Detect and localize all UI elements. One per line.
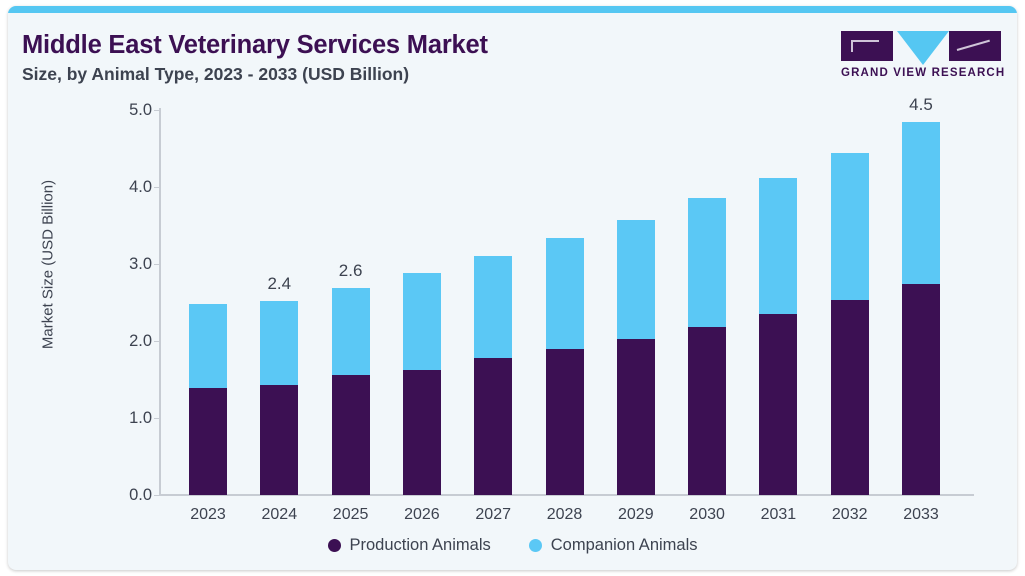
chart-legend: Production AnimalsCompanion Animals <box>8 536 1017 555</box>
y-axis-tick-label: 5.0 <box>108 102 152 119</box>
y-axis-tick-mark <box>154 264 160 265</box>
stacked-bar[interactable] <box>260 301 298 495</box>
stacked-bar[interactable] <box>759 178 797 495</box>
stacked-bar[interactable] <box>617 220 655 495</box>
x-axis-tick-label: 2032 <box>810 506 890 524</box>
bar-segment-companion-animals[interactable] <box>759 178 797 314</box>
bar-segment-companion-animals[interactable] <box>189 304 227 388</box>
bar-segment-production-animals[interactable] <box>759 314 797 495</box>
bar-segment-production-animals[interactable] <box>332 375 370 495</box>
bar-segment-production-animals[interactable] <box>546 349 584 495</box>
chart-card: Middle East Veterinary Services Market S… <box>8 6 1017 570</box>
y-axis-tick-mark <box>154 495 160 496</box>
x-axis-tick-label: 2023 <box>168 506 248 524</box>
bar-segment-production-animals[interactable] <box>189 388 227 495</box>
legend-label: Companion Animals <box>551 536 698 555</box>
bar-segment-production-animals[interactable] <box>617 339 655 495</box>
plot-area: Market Size (USD Billion) 0.01.02.03.04.… <box>8 6 1017 570</box>
bar-segment-companion-animals[interactable] <box>260 301 298 385</box>
x-axis-tick-label: 2028 <box>525 506 605 524</box>
y-axis-tick-mark <box>154 418 160 419</box>
x-axis-tick-label: 2024 <box>239 506 319 524</box>
x-axis-tick-label: 2031 <box>738 506 818 524</box>
y-axis-tick-label: 4.0 <box>108 179 152 196</box>
bar-segment-companion-animals[interactable] <box>474 256 512 358</box>
y-axis-tick-label: 0.0 <box>108 487 152 504</box>
bar-segment-production-animals[interactable] <box>831 300 869 495</box>
x-axis-tick-label: 2026 <box>382 506 462 524</box>
bar-segment-companion-animals[interactable] <box>688 198 726 327</box>
stacked-bar[interactable] <box>831 153 869 495</box>
bar-segment-companion-animals[interactable] <box>403 273 441 370</box>
x-axis-tick-label: 2027 <box>453 506 533 524</box>
bar-segment-production-animals[interactable] <box>688 327 726 495</box>
bar-segment-production-animals[interactable] <box>902 284 940 495</box>
stacked-bar[interactable] <box>332 288 370 495</box>
bar-value-label: 2.6 <box>311 261 391 281</box>
y-axis-tick-label: 2.0 <box>108 333 152 350</box>
legend-color-swatch-icon <box>529 539 542 552</box>
stacked-bar[interactable] <box>902 122 940 495</box>
y-axis-tick-label: 3.0 <box>108 256 152 273</box>
y-axis-title: Market Size (USD Billion) <box>40 135 57 395</box>
x-axis-tick-label: 2025 <box>311 506 391 524</box>
x-axis-tick-label: 2033 <box>881 506 961 524</box>
stacked-bar[interactable] <box>546 238 584 495</box>
stacked-bar[interactable] <box>688 198 726 495</box>
bar-value-label: 4.5 <box>881 95 961 115</box>
legend-color-swatch-icon <box>328 539 341 552</box>
bar-segment-companion-animals[interactable] <box>902 122 940 284</box>
bar-segment-companion-animals[interactable] <box>332 288 370 375</box>
bar-segment-production-animals[interactable] <box>474 358 512 495</box>
bar-segment-production-animals[interactable] <box>403 370 441 495</box>
bar-segment-production-animals[interactable] <box>260 385 298 495</box>
y-axis-line <box>159 108 161 496</box>
legend-label: Production Animals <box>350 536 491 555</box>
bar-value-label: 2.4 <box>239 274 319 294</box>
bar-segment-companion-animals[interactable] <box>831 153 869 300</box>
bar-segment-companion-animals[interactable] <box>546 238 584 349</box>
y-axis-tick-mark <box>154 187 160 188</box>
stacked-bar[interactable] <box>403 273 441 495</box>
y-axis-tick-mark <box>154 110 160 111</box>
legend-item[interactable]: Companion Animals <box>529 536 698 555</box>
stacked-bar[interactable] <box>474 256 512 495</box>
x-axis-tick-label: 2030 <box>667 506 747 524</box>
x-axis-tick-label: 2029 <box>596 506 676 524</box>
stacked-bar[interactable] <box>189 304 227 495</box>
y-axis-tick-mark <box>154 341 160 342</box>
bar-segment-companion-animals[interactable] <box>617 220 655 339</box>
legend-item[interactable]: Production Animals <box>328 536 491 555</box>
y-axis-tick-label: 1.0 <box>108 410 152 427</box>
